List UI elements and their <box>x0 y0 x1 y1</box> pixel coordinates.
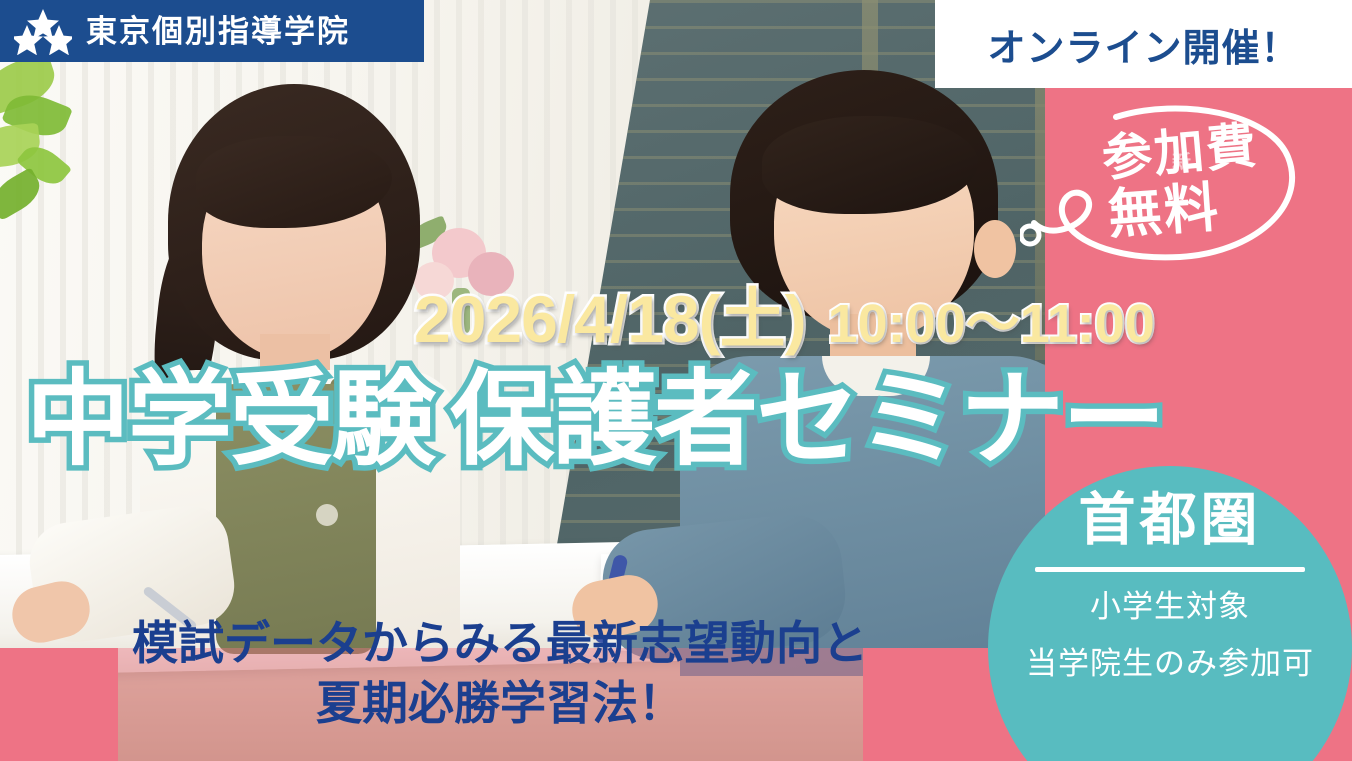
bottom-band-left <box>0 648 118 761</box>
brand-name-text: 東京個別指導学院 <box>86 16 350 47</box>
free-badge-ghost-text: 新 <box>1172 147 1191 174</box>
region-badge-eligibility: 当学院生のみ参加可 <box>1026 645 1314 684</box>
region-badge-target: 小学生対象 <box>1090 588 1250 627</box>
brand-logo-bar[interactable]: 東京個別指導学院 <box>0 0 424 62</box>
region-badge-circle: 首都圏 小学生対象 当学院生のみ参加可 <box>988 466 1352 761</box>
free-badge-text-group: 参加費 無料 <box>1020 95 1320 270</box>
seminar-promo-banner: 東京個別指導学院 オンライン開催！ 参加費 無料 新 2026/4/18(土) … <box>0 0 1352 761</box>
event-time: 10:00〜11:00 <box>828 297 1155 351</box>
free-badge-line2: 無料 <box>1106 180 1221 242</box>
seminar-main-title: 中学受験保護者セミナー <box>26 368 1164 472</box>
subtitle-line-1: 模試データからみる最新志望動向と <box>130 614 870 674</box>
event-date: 2026/4/18(土) <box>414 286 806 352</box>
three-stars-emblem-icon <box>14 7 72 55</box>
region-badge-title: 首都圏 <box>1079 492 1262 549</box>
title-part-2: 保護者セミナー <box>450 362 1164 478</box>
online-format-badge: オンライン開催！ <box>935 0 1352 88</box>
free-participation-badge: 参加費 無料 新 <box>1020 95 1320 270</box>
event-datetime-row: 2026/4/18(土) 10:00〜11:00 <box>414 286 1155 352</box>
title-part-1: 中学受験 <box>26 362 434 478</box>
seminar-subtitle: 模試データからみる最新志望動向と 夏期必勝学習法！ <box>130 614 870 734</box>
online-badge-text: オンライン開催！ <box>987 17 1299 72</box>
region-badge-divider <box>1035 567 1305 572</box>
subtitle-line-2: 夏期必勝学習法！ <box>130 674 870 734</box>
